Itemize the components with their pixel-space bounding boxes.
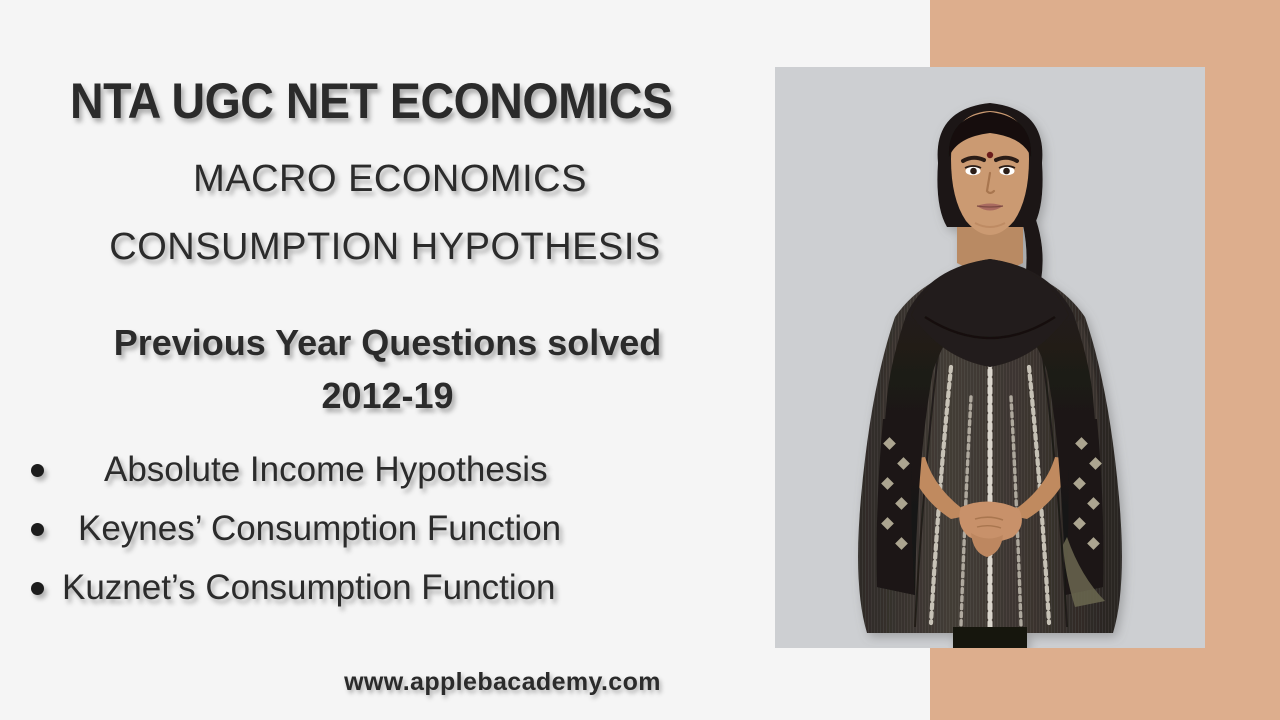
list-item: Kuznet’s Consumption Function (0, 563, 760, 622)
list-item: Absolute Income Hypothesis (0, 445, 760, 504)
page-title: NTA UGC NET ECONOMICS (70, 76, 672, 126)
list-item-label: Absolute Income Hypothesis (104, 445, 548, 495)
bullet-dot-icon (31, 523, 44, 536)
previous-year-questions-label: Previous Year Questions solved (0, 325, 775, 361)
list-item-label: Kuznet’s Consumption Function (62, 563, 556, 613)
topic-bullet-list: Absolute Income Hypothesis Keynes’ Consu… (0, 445, 760, 622)
subject-heading: MACRO ECONOMICS (0, 160, 780, 198)
year-range-label: 2012-19 (0, 378, 775, 414)
bullet-dot-icon (31, 582, 44, 595)
presenter-photo (775, 67, 1205, 648)
website-url: www.applebacademy.com (0, 668, 1005, 697)
list-item: Keynes’ Consumption Function (0, 504, 760, 563)
list-item-label: Keynes’ Consumption Function (78, 504, 561, 554)
topic-heading: CONSUMPTION HYPOTHESIS (0, 228, 770, 266)
bullet-dot-icon (31, 464, 44, 477)
slide-canvas: NTA UGC NET ECONOMICS MACRO ECONOMICS CO… (0, 0, 1280, 720)
text-column: NTA UGC NET ECONOMICS MACRO ECONOMICS CO… (0, 0, 760, 720)
presenter-photo-panel (775, 67, 1205, 648)
